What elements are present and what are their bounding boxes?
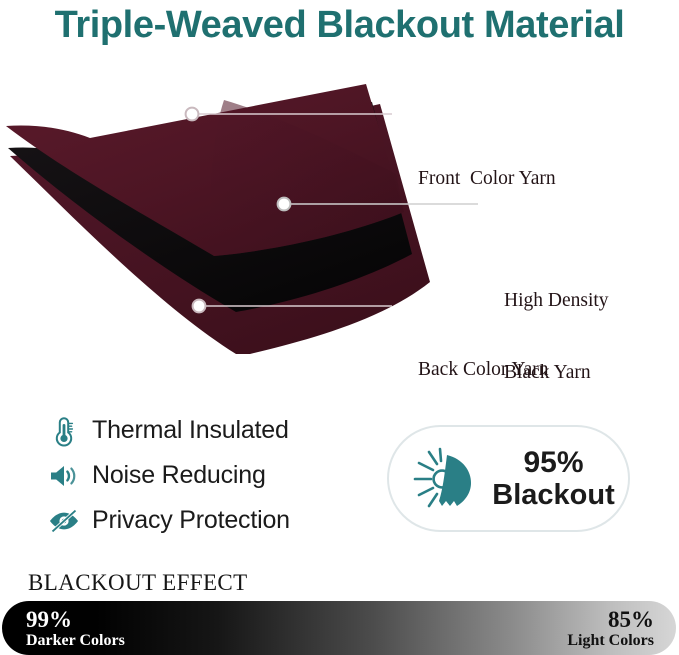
light-colors-caption: Light Colors (567, 632, 654, 650)
thermometer-icon (42, 415, 86, 447)
blackout-percentage-badge: 95% Blackout (387, 425, 630, 532)
eye-off-icon (42, 508, 86, 534)
blackout-effect-gradient-bar: 99% Darker Colors 85% Light Colors (2, 601, 676, 655)
callout-label-high-density-black-yarn: High Density Black Yarn (504, 241, 609, 433)
gradient-bar-right-stat: 85% Light Colors (567, 607, 654, 650)
sun-blocked-by-curtain-icon (397, 443, 489, 515)
page-title: Triple-Weaved Blackout Material (0, 2, 679, 48)
blackout-effect-title: BLACKOUT EFFECT (28, 570, 248, 596)
callout-label-back-color-yarn: Back Color Yarn (418, 358, 549, 382)
blackout-badge-text: 95% Blackout (489, 446, 628, 511)
speaker-sound-icon (42, 462, 86, 490)
darker-colors-percent: 99% (26, 607, 125, 632)
gradient-bar-left-stat: 99% Darker Colors (26, 607, 125, 650)
callout-label-line-1: High Density (504, 289, 609, 313)
feature-item-noise-reducing: Noise Reducing (42, 453, 372, 498)
darker-colors-caption: Darker Colors (26, 632, 125, 650)
fabric-layers-diagram: Front Color Yarn High Density Black Yarn… (0, 62, 679, 362)
blackout-word: Blackout (489, 479, 618, 511)
feature-label: Privacy Protection (92, 506, 290, 535)
feature-item-privacy-protection: Privacy Protection (42, 498, 372, 543)
blackout-percent: 95% (489, 446, 618, 479)
feature-list: Thermal Insulated Noise Reducing Privacy… (42, 408, 372, 543)
feature-label: Noise Reducing (92, 461, 266, 490)
feature-item-thermal-insulated: Thermal Insulated (42, 408, 372, 453)
light-colors-percent: 85% (567, 607, 654, 632)
feature-label: Thermal Insulated (92, 416, 289, 445)
callout-label-front-color-yarn: Front Color Yarn (418, 167, 556, 191)
